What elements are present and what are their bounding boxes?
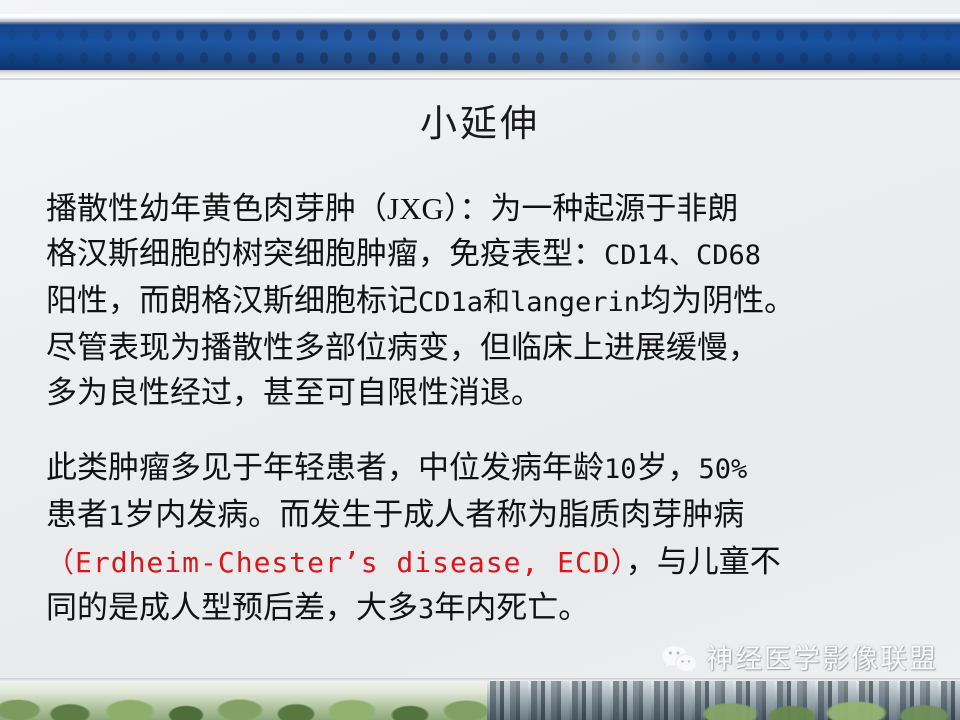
band-bottom-bevel	[0, 70, 960, 78]
slide-canvas: 小延伸 播散性幼年黄色肉芽肿（JXG）：为一种起源于非朗 格汉斯细胞的树突细胞肿…	[0, 0, 960, 720]
watermark: 神经医学影像联盟	[661, 644, 938, 674]
p2-ecd-highlight: （Erdheim-Chester’s disease, ECD）	[46, 546, 626, 579]
p2-line1-c: 岁，	[637, 450, 699, 485]
p2-survival-years: 3	[418, 594, 434, 625]
page-title: 小延伸	[0, 102, 960, 148]
p2-line3-rest: ，与儿童不	[626, 544, 781, 579]
p1-line2-a: 格汉斯细胞的树突细胞肿瘤，免疫表型：	[46, 236, 604, 271]
wechat-icon	[661, 644, 697, 674]
p2-line4-a: 同的是成人型预后差，大多	[46, 590, 418, 625]
p1-line1: 播散性幼年黄色肉芽肿（JXG）：为一种起源于非朗	[46, 191, 738, 226]
p2-line2-c: 岁内发病。而发生于成人者称为脂质肉芽肿病	[124, 497, 744, 532]
p2-percent-value: 50%	[699, 454, 748, 485]
p2-median-age: 10	[604, 454, 637, 485]
slide-body: 播散性幼年黄色肉芽肿（JXG）：为一种起源于非朗 格汉斯细胞的树突细胞肿瘤，免疫…	[46, 186, 926, 650]
footer-photo-strip	[0, 678, 960, 720]
band-blue-fill	[0, 22, 960, 71]
p1-line2-markers: CD14、CD68	[604, 240, 761, 271]
band-sheen-overlay	[0, 22, 960, 71]
p1-line3-markers: CD1a和langerin	[418, 287, 640, 318]
p2-line1-a: 此类肿瘤多见于年轻患者，中位发病年龄	[46, 450, 604, 485]
footer-separator	[0, 678, 960, 681]
p2-line2-a: 患者	[46, 497, 108, 532]
p1-line3-a: 阳性，而朗格汉斯细胞标记	[46, 283, 418, 318]
p1-line3-c: 均为阴性。	[640, 283, 795, 318]
cityscape-foreground-trees	[700, 690, 960, 720]
paragraph-jxg-definition: 播散性幼年黄色肉芽肿（JXG）：为一种起源于非朗 格汉斯细胞的树突细胞肿瘤，免疫…	[46, 186, 926, 415]
p1-line5: 多为良性经过，甚至可自限性消退。	[46, 375, 542, 410]
foliage-photo	[0, 680, 505, 720]
watermark-text: 神经医学影像联盟	[706, 644, 938, 674]
p2-line4-c: 年内死亡。	[434, 590, 589, 625]
header-decorative-band	[0, 0, 960, 86]
p1-line4: 尽管表现为播散性多部位病变，但临床上进展缓慢，	[46, 330, 759, 365]
band-highlight-line	[0, 22, 960, 25]
p2-onset-age: 1	[108, 501, 124, 532]
paragraph-epidemiology: 此类肿瘤多见于年轻患者，中位发病年龄10岁，50% 患者1岁内发病。而发生于成人…	[46, 445, 926, 632]
